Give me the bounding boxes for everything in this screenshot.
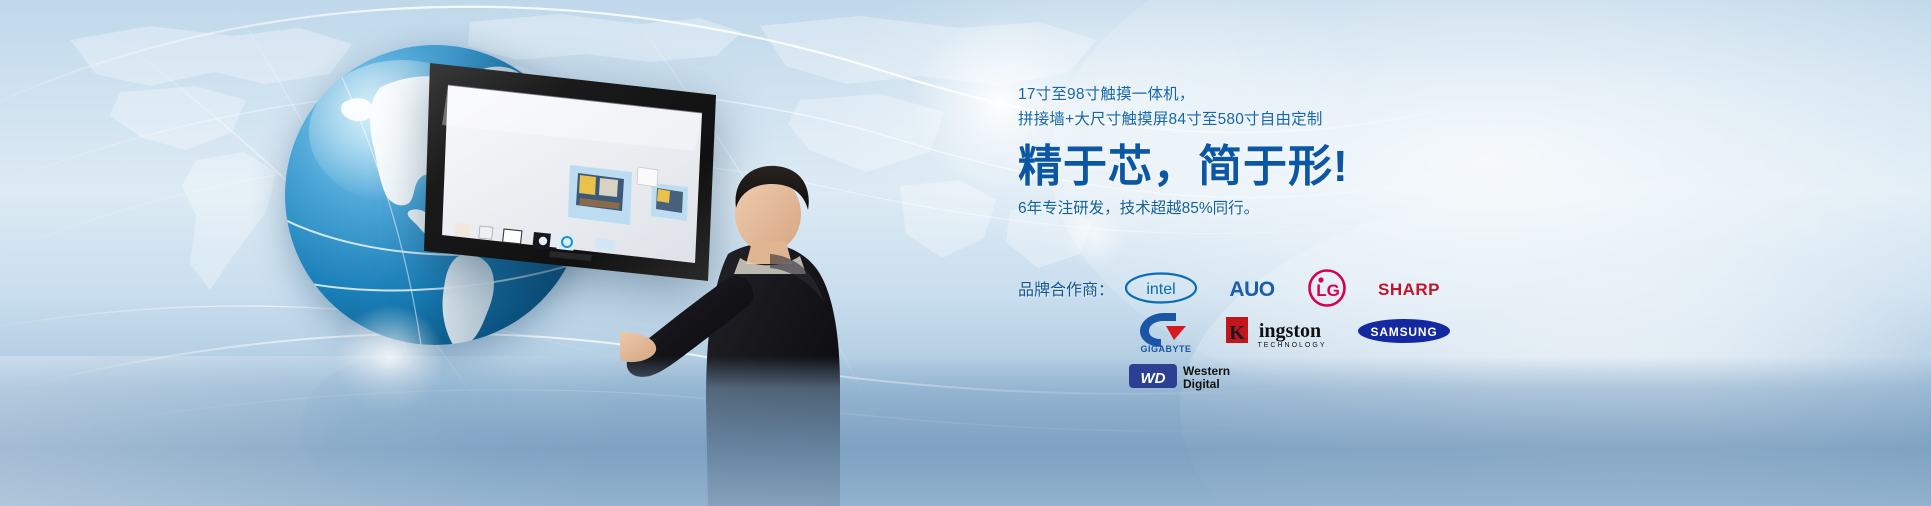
- svg-text:SAMSUNG: SAMSUNG: [1371, 325, 1438, 339]
- auo-logo: AUO: [1218, 273, 1286, 303]
- svg-text:LG: LG: [1316, 281, 1340, 300]
- partner-row-2: GIGABYTE K ingston TECHNOLOGY SAMSUNG: [1018, 308, 1578, 354]
- lg-logo: LG: [1306, 267, 1348, 309]
- svg-text:GIGABYTE: GIGABYTE: [1140, 344, 1191, 353]
- subline: 6年专注研发，技术超越85%同行。: [1018, 197, 1538, 221]
- svg-text:AUO: AUO: [1229, 278, 1274, 301]
- intel-logo: intel: [1124, 271, 1198, 305]
- svg-text:ingston: ingston: [1259, 320, 1321, 342]
- gigabyte-logo: GIGABYTE: [1128, 309, 1204, 353]
- svg-text:K: K: [1229, 322, 1245, 344]
- svg-text:Western: Western: [1183, 364, 1230, 378]
- svg-text:WD: WD: [1141, 370, 1166, 387]
- kingston-logo: K ingston TECHNOLOGY: [1224, 311, 1336, 351]
- partner-row-3: WD Western Digital: [1018, 354, 1578, 398]
- kicker-line-2: 拼接墙+大尺寸触摸屏84寸至580寸自由定制: [1018, 107, 1538, 132]
- copy-block: 17寸至98寸触摸一体机， 拼接墙+大尺寸触摸屏84寸至580寸自由定制 精于芯…: [1018, 82, 1538, 221]
- kicker: 17寸至98寸触摸一体机， 拼接墙+大尺寸触摸屏84寸至580寸自由定制: [1018, 82, 1538, 132]
- person-touching-screen: [620, 150, 850, 506]
- globe-reflection: [300, 352, 570, 502]
- headline: 精于芯，简于形!: [1018, 141, 1538, 193]
- kicker-line-1: 17寸至98寸触摸一体机，: [1018, 82, 1538, 107]
- sharp-logo: SHARP: [1368, 275, 1450, 301]
- partners-label: 品牌合作商：: [1018, 276, 1114, 300]
- western-digital-logo: WD Western Digital: [1128, 357, 1244, 395]
- svg-text:SHARP: SHARP: [1378, 280, 1440, 299]
- svg-text:TECHNOLOGY: TECHNOLOGY: [1257, 342, 1326, 349]
- svg-text:Digital: Digital: [1183, 377, 1220, 391]
- partner-logos: 品牌合作商： intel AUO LG: [1018, 268, 1578, 398]
- reflective-floor: [0, 356, 1931, 506]
- svg-text:intel: intel: [1146, 281, 1175, 298]
- partner-row-1: 品牌合作商： intel AUO LG: [1018, 268, 1578, 308]
- promo-banner: 17寸至98寸触摸一体机， 拼接墙+大尺寸触摸屏84寸至580寸自由定制 精于芯…: [0, 0, 1931, 506]
- samsung-logo: SAMSUNG: [1356, 316, 1452, 346]
